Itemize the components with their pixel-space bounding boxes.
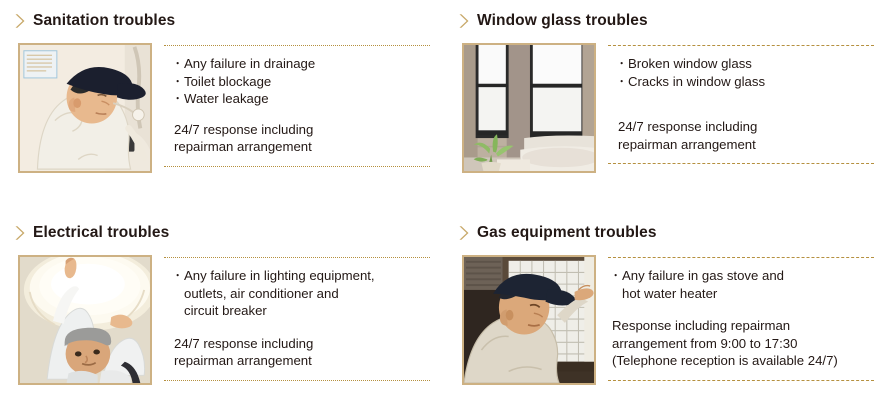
panel-body: Broken window glass Cracks in window gla… xyxy=(444,43,874,173)
divider-bottom xyxy=(608,163,874,164)
list-item: Broken window glass xyxy=(618,55,874,73)
divider-bottom xyxy=(164,166,430,167)
photo-canvas xyxy=(20,257,150,383)
window-glass-photo xyxy=(462,43,596,173)
sanitation-worker-photo xyxy=(18,43,152,173)
panel-body: Any failure in lighting equipment, outle… xyxy=(0,255,430,385)
panel-gas-equipment: Gas equipment troubles xyxy=(444,220,874,385)
panel-electrical: Electrical troubles xyxy=(0,220,430,385)
response-note: 24/7 response including repairman arrang… xyxy=(618,118,874,153)
list-item: Cracks in window glass xyxy=(618,73,874,91)
photo-canvas xyxy=(464,45,594,171)
response-note: Response including repairman arrangement… xyxy=(612,317,874,370)
response-note: 24/7 response including repairman arrang… xyxy=(174,335,430,370)
divider-bottom xyxy=(164,380,430,381)
panel-text: Any failure in drainage Toilet blockage … xyxy=(164,43,430,173)
panel-title: Gas equipment troubles xyxy=(477,224,657,242)
bullet-list: Any failure in gas stove and hot water h… xyxy=(612,267,874,302)
panel-text: Any failure in gas stove and hot water h… xyxy=(608,255,874,385)
panel-body: Any failure in gas stove and hot water h… xyxy=(444,255,874,385)
list-item: Any failure in drainage xyxy=(174,55,430,73)
bullet-list: Any failure in drainage Toilet blockage … xyxy=(174,55,430,108)
panel-heading-gas-equipment: Gas equipment troubles xyxy=(444,220,874,246)
panel-heading-window-glass: Window glass troubles xyxy=(444,8,874,34)
bullet-list: Broken window glass Cracks in window gla… xyxy=(618,55,874,90)
panel-text: Any failure in lighting equipment, outle… xyxy=(164,255,430,385)
panel-title: Sanitation troubles xyxy=(33,12,175,30)
gas-equipment-worker-photo xyxy=(462,255,596,385)
photo-canvas xyxy=(20,45,150,171)
chevron-right-icon xyxy=(458,13,469,29)
service-categories-grid: Sanitation troubles xyxy=(0,0,880,417)
panel-title: Window glass troubles xyxy=(477,12,648,30)
chevron-right-icon xyxy=(458,225,469,241)
list-item: Toilet blockage xyxy=(174,73,430,91)
chevron-right-icon xyxy=(14,13,25,29)
divider-bottom xyxy=(608,380,874,381)
panel-heading-electrical: Electrical troubles xyxy=(0,220,430,246)
panel-sanitation: Sanitation troubles xyxy=(0,8,430,173)
panel-text: Broken window glass Cracks in window gla… xyxy=(608,43,874,173)
chevron-right-icon xyxy=(14,225,25,241)
list-item: Any failure in gas stove and hot water h… xyxy=(612,267,874,302)
panel-title: Electrical troubles xyxy=(33,224,169,242)
photo-canvas xyxy=(464,257,594,383)
response-note: 24/7 response including repairman arrang… xyxy=(174,121,430,156)
electrical-worker-photo xyxy=(18,255,152,385)
list-item: Water leakage xyxy=(174,90,430,108)
list-item: Any failure in lighting equipment, outle… xyxy=(174,267,430,320)
bullet-list: Any failure in lighting equipment, outle… xyxy=(174,267,430,320)
panel-body: Any failure in drainage Toilet blockage … xyxy=(0,43,430,173)
panel-window-glass: Window glass troubles xyxy=(444,8,874,173)
panel-heading-sanitation: Sanitation troubles xyxy=(0,8,430,34)
